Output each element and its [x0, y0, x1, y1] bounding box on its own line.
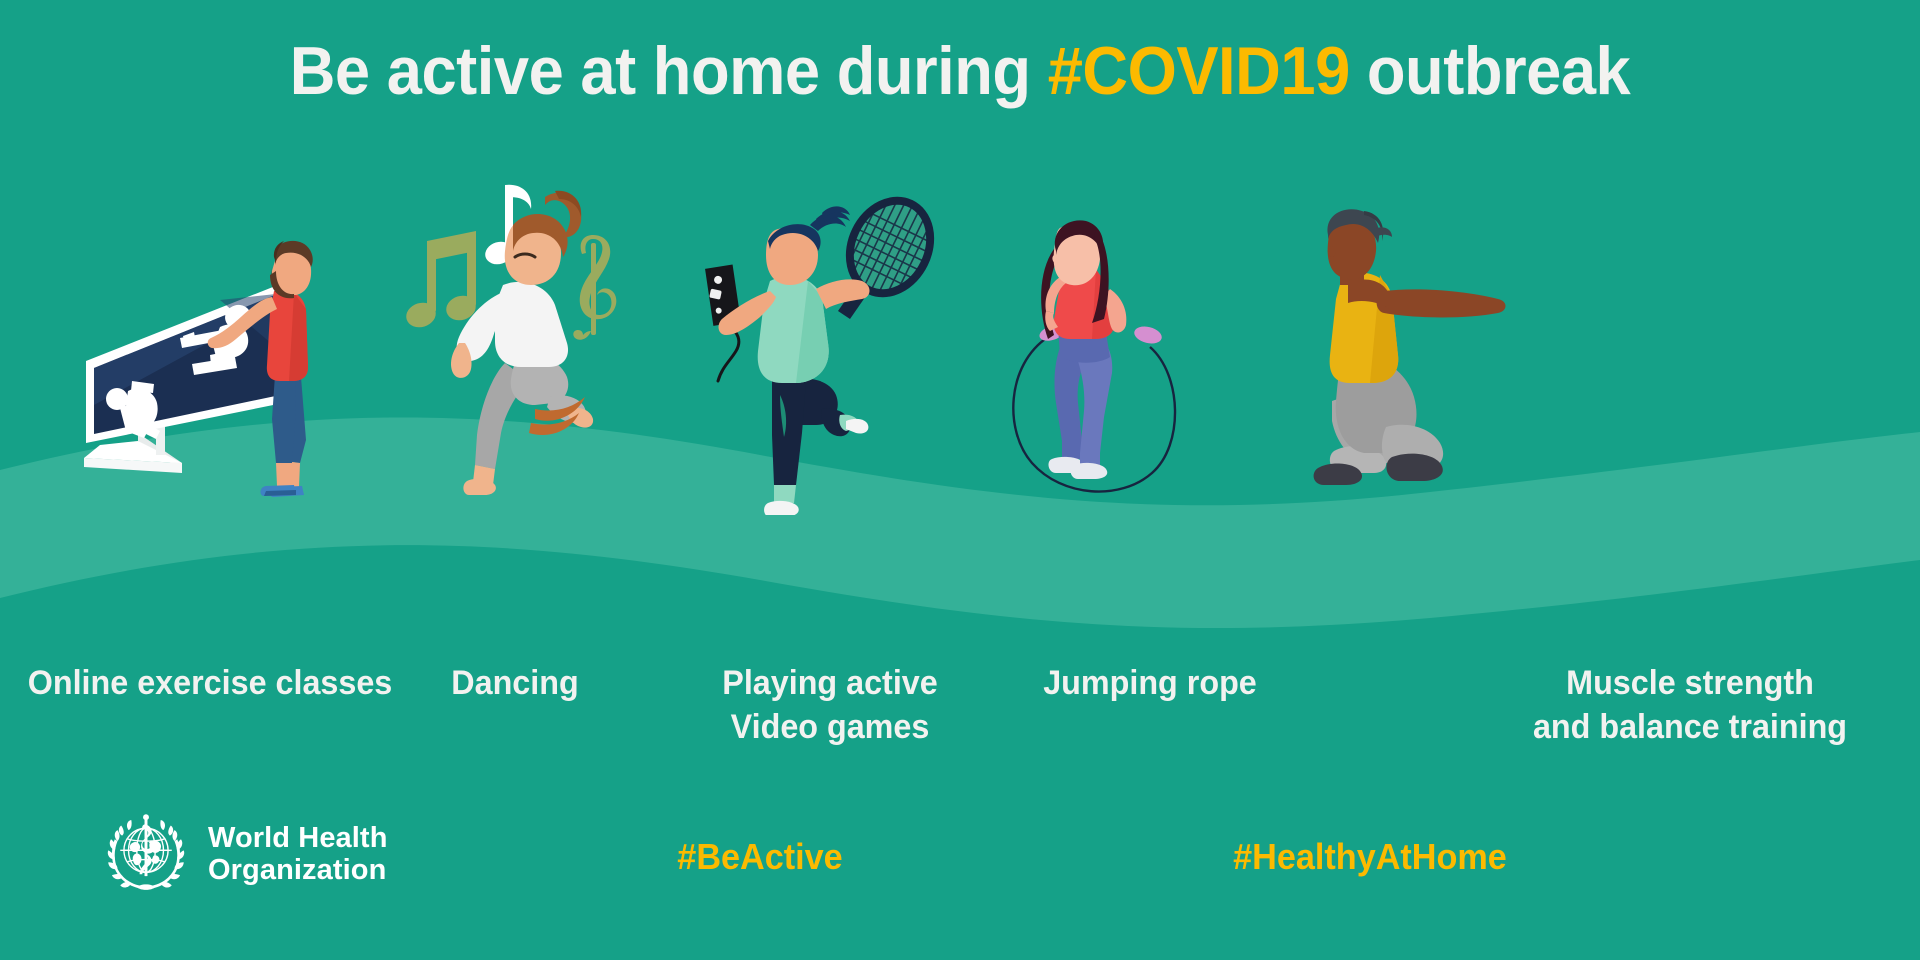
- illustration-muscle-strength-training: [1290, 205, 1610, 525]
- illustration-jumping-rope: [1000, 215, 1290, 525]
- hashtag-healthy-at-home: #HealthyAtHome: [1190, 836, 1551, 878]
- activity-label-dancing: Dancing: [377, 662, 653, 706]
- who-emblem-icon: [100, 808, 192, 900]
- person-jumping-rope: [1041, 220, 1126, 479]
- illustration-playing-active-video-games: [670, 185, 950, 515]
- title-text-before: Be active at home during: [290, 33, 1048, 109]
- illustration-dancing: [395, 165, 675, 525]
- who-wordmark: World Health Organization: [208, 822, 388, 887]
- title-text-after: outbreak: [1350, 33, 1630, 109]
- page-title: Be active at home during #COVID19 outbre…: [67, 32, 1853, 110]
- illustration-online-exercise-classes: [70, 205, 370, 525]
- who-logo: World Health Organization: [100, 808, 388, 900]
- activity-label-muscle-strength-and-balance-training: Muscle strength and balance training: [1467, 662, 1914, 749]
- music-note-treble-clef-icon: [573, 235, 616, 340]
- activity-label-online-exercise-classes: Online exercise classes: [11, 662, 410, 706]
- jump-rope-handle-right: [1132, 324, 1163, 346]
- hashtag-be-active: #BeActive: [627, 836, 893, 878]
- title-hashtag-covid19: #COVID19: [1048, 33, 1350, 109]
- infographic-canvas: Be active at home during #COVID19 outbre…: [0, 0, 1920, 960]
- activity-label-playing-active-video-games: Playing active Video games: [678, 662, 982, 749]
- person-squatting: [1314, 209, 1506, 485]
- activity-label-jumping-rope: Jumping rope: [1008, 662, 1293, 706]
- music-note-double-icon: [403, 231, 479, 331]
